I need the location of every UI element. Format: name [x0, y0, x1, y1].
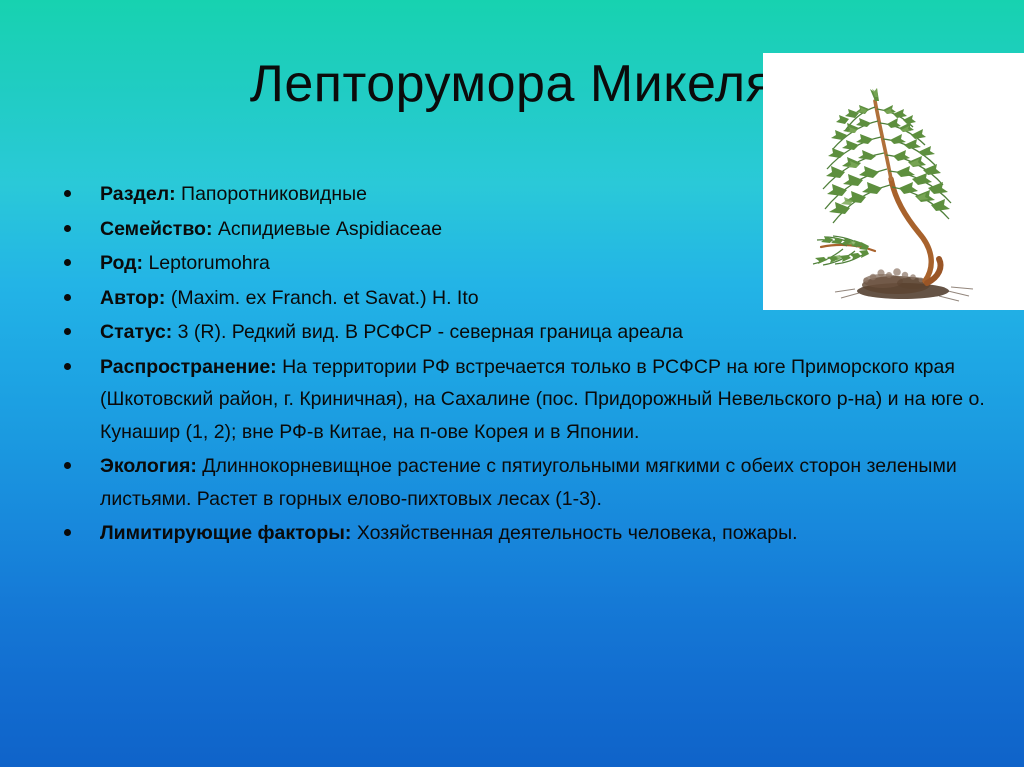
list-item: Лимитирующие факторы: Хозяйственная деят…	[58, 517, 1005, 550]
bullet-dot-icon	[64, 529, 71, 536]
list-item-label: Род:	[100, 252, 143, 274]
bullet-dot-icon	[64, 259, 71, 266]
list-item-text: Длиннокорневищное растение с пятиугольны…	[100, 455, 957, 510]
list-item-label: Распространение:	[100, 356, 277, 378]
bullet-dot-icon	[64, 225, 71, 232]
list-item: Автор: (Maxim. ex Franch. et Savat.) H. …	[58, 282, 790, 315]
bullet-dot-icon	[64, 462, 71, 469]
list-item-text: Хозяйственная деятельность человека, пож…	[351, 522, 797, 544]
list-item: Статус: 3 (R). Редкий вид. В РСФСР - сев…	[58, 316, 790, 349]
bullet-dot-icon	[64, 328, 71, 335]
list-item: Экология: Длиннокорневищное растение с п…	[58, 450, 1005, 515]
list-item-text: 3 (R). Редкий вид. В РСФСР - северная гр…	[172, 321, 683, 343]
bullet-dot-icon	[64, 190, 71, 197]
list-item: Род: Leptorumohra	[58, 247, 790, 280]
list-item: Семейство: Аспидиевые Aspidiaceae	[58, 213, 790, 246]
list-item-text: Аспидиевые Aspidiaceae	[212, 218, 442, 240]
fern-illustration-panel	[763, 53, 1024, 310]
list-item: Раздел: Папоротниковидные	[58, 178, 790, 211]
list-item: Распространение: На территории РФ встреч…	[58, 351, 1005, 449]
presentation-slide: Лепторумора Микеля	[0, 0, 1024, 767]
list-item-text: (Maxim. ex Franch. et Savat.) H. Ito	[165, 287, 478, 309]
list-item-label: Лимитирующие факторы:	[100, 522, 351, 544]
list-item-label: Семейство:	[100, 218, 212, 240]
list-item-label: Раздел:	[100, 183, 176, 205]
list-item-text: Папоротниковидные	[176, 183, 367, 205]
list-item-text: Leptorumohra	[143, 252, 270, 274]
fern-illustration-icon	[763, 53, 1024, 310]
list-item-label: Экология:	[100, 455, 197, 477]
bullet-dot-icon	[64, 363, 71, 370]
list-item-label: Автор:	[100, 287, 165, 309]
list-item-label: Статус:	[100, 321, 172, 343]
bullet-dot-icon	[64, 294, 71, 301]
